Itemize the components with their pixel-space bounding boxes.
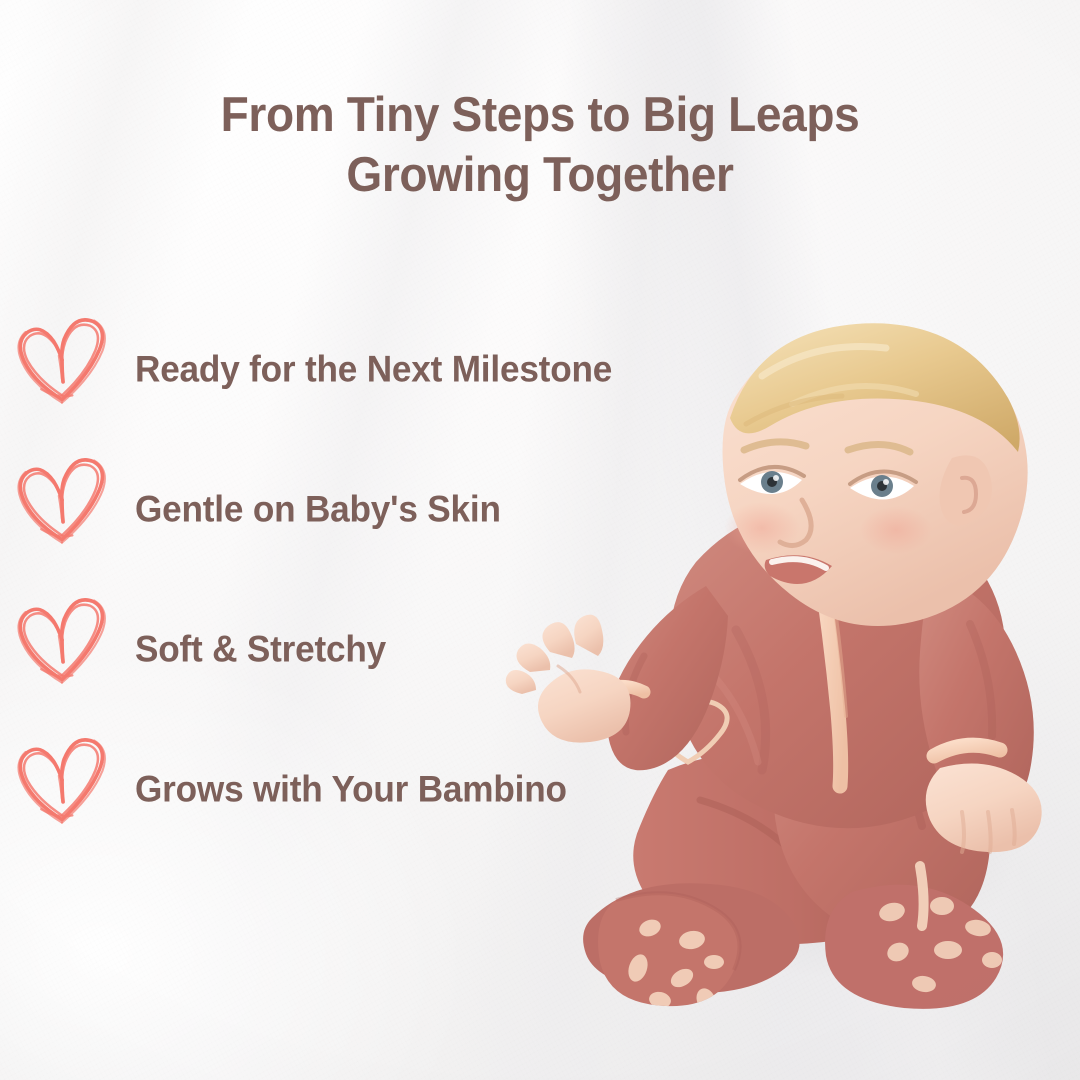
hand-drawn-heart-icon [10,588,114,692]
feature-list: Ready for the Next Milestone [0,300,720,860]
hand-drawn-heart-icon [10,728,114,832]
feature-item-3: Soft & Stretchy [0,580,720,720]
hand-drawn-heart-icon [10,448,114,552]
feature-item-1: Ready for the Next Milestone [0,300,720,440]
feature-item-2: Gentle on Baby's Skin [0,440,720,580]
feature-label: Gentle on Baby's Skin [135,490,501,531]
feature-item-4: Grows with Your Bambino [0,720,720,860]
hand-drawn-heart-icon [10,308,114,412]
feature-label: Grows with Your Bambino [135,770,567,811]
feature-label: Soft & Stretchy [135,630,386,671]
promo-canvas: From Tiny Steps to Big Leaps Growing Tog… [0,0,1080,1080]
feature-label: Ready for the Next Milestone [135,350,612,391]
